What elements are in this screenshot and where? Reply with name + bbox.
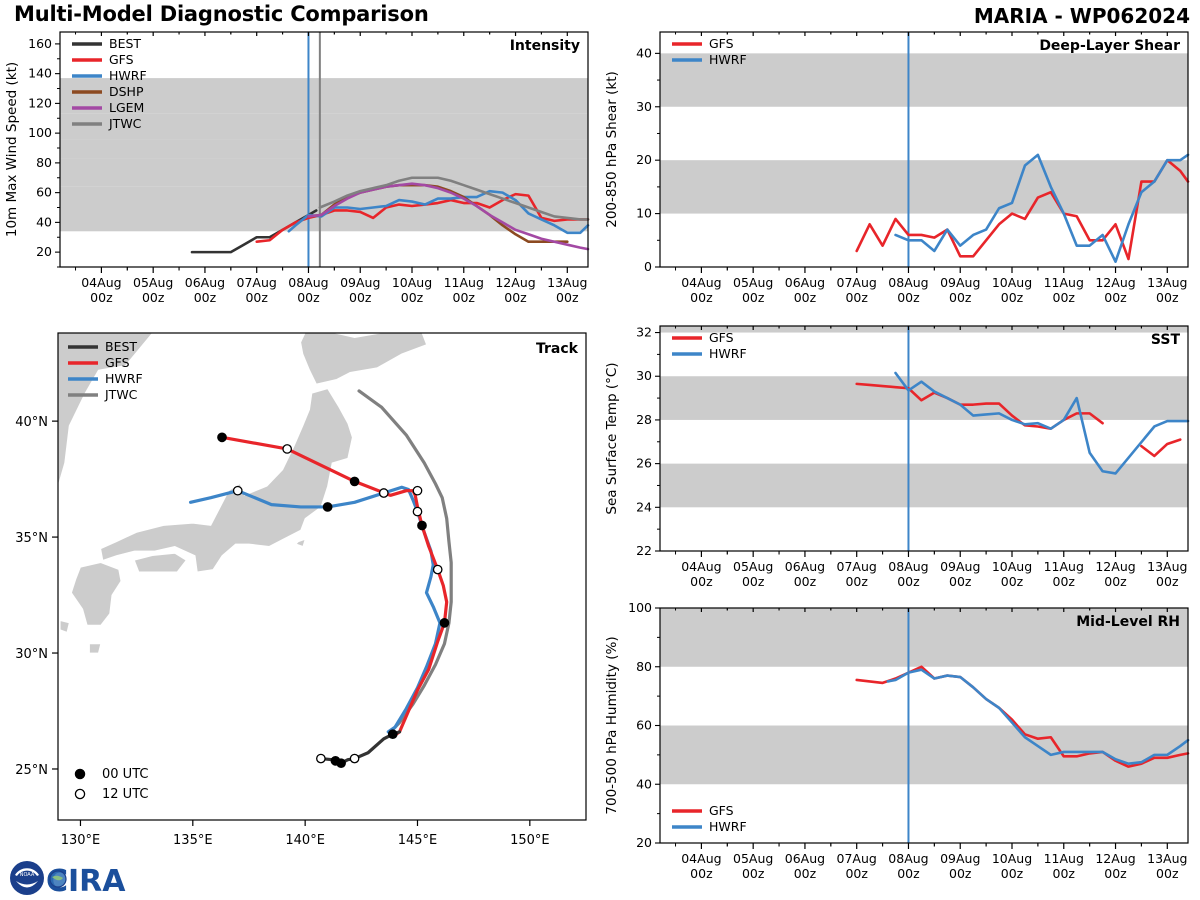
x-tick-sublabel: 00z <box>794 574 817 589</box>
y-tick-label: 100 <box>628 600 652 615</box>
x-tick-label: 07Aug <box>237 275 277 290</box>
track-marker-12utc <box>234 486 242 494</box>
x-tick-label: 05Aug <box>733 851 773 866</box>
legend-label-lgem: LGEM <box>109 100 144 115</box>
x-tick-label: 06Aug <box>185 275 225 290</box>
legend-label-best: BEST <box>109 36 141 51</box>
band <box>660 464 1188 508</box>
x-tick-label: 04Aug <box>681 851 721 866</box>
plot-rh: 20406080100700-500 hPa Humidity (%)04Aug… <box>600 598 1200 898</box>
legend-label-gfs: GFS <box>109 52 134 67</box>
x-tick-sublabel: 00z <box>1104 574 1127 589</box>
x-tick-sublabel: 00z <box>1156 574 1179 589</box>
y-tick-label: 32 <box>636 325 652 340</box>
x-tick-label: 04Aug <box>681 275 721 290</box>
x-tick-sublabel: 00z <box>297 290 320 305</box>
y-tick-label: 28 <box>636 412 652 427</box>
marker-legend-label: 00 UTC <box>102 767 148 782</box>
y-axis: 010203040 <box>636 45 660 274</box>
x-tick-sublabel: 00z <box>949 866 972 881</box>
band <box>60 139 588 158</box>
chart-intensity: 2040608010012014016010m Max Wind Speed (… <box>0 22 600 322</box>
legend-label-jtwc: JTWC <box>108 116 142 131</box>
x-tick-label: 04Aug <box>681 559 721 574</box>
track-marker-00utc <box>389 730 397 738</box>
track-marker-00utc <box>337 759 345 767</box>
y-axis-label: Sea Surface Temp (°C) <box>604 362 620 514</box>
x-tick-label: 07Aug <box>837 851 877 866</box>
legend-label-jtwc: JTWC <box>104 387 138 402</box>
y-tick-label: 40 <box>636 45 652 60</box>
x-tick-sublabel: 00z <box>349 290 372 305</box>
plot-track: 130°E135°E140°E145°E150°E25°N30°N35°N40°… <box>0 325 600 865</box>
x-tick-sublabel: 00z <box>1053 574 1076 589</box>
x-tick-sublabel: 00z <box>845 574 868 589</box>
x-tick-sublabel: 00z <box>742 290 765 305</box>
y-tick-label: 60 <box>636 718 652 733</box>
svg-text:NOAA: NOAA <box>20 872 35 878</box>
y-tick-label: 10 <box>636 206 652 221</box>
x-tick-label: 11Aug <box>1044 275 1084 290</box>
x-tick-sublabel: 00z <box>453 290 476 305</box>
x-tick-sublabel: 00z <box>1053 866 1076 881</box>
map-x-tick-label: 150°E <box>510 833 550 848</box>
x-tick-label: 09Aug <box>940 275 980 290</box>
y-tick-label: 40 <box>636 776 652 791</box>
x-tick-sublabel: 00z <box>401 290 424 305</box>
track-marker-12utc <box>380 489 388 497</box>
x-tick-label: 12Aug <box>495 275 535 290</box>
y-tick-label: 22 <box>636 543 652 558</box>
noaa-cira-logo: NOAA CIRA <box>8 858 138 898</box>
x-tick-sublabel: 00z <box>556 290 579 305</box>
legend-label-gfs: GFS <box>709 803 734 818</box>
y-tick-label: 60 <box>36 185 52 200</box>
y-axis-label: 10m Max Wind Speed (kt) <box>4 62 20 237</box>
legend-label-gfs: GFS <box>709 36 734 51</box>
x-tick-sublabel: 00z <box>794 290 817 305</box>
map-x-tick-label: 145°E <box>398 833 438 848</box>
map-y-tick-label: 35°N <box>15 531 48 546</box>
legend-label-hwrf: HWRF <box>709 819 747 834</box>
track-marker-00utc <box>440 619 448 627</box>
y-tick-label: 140 <box>28 66 52 81</box>
x-tick-label: 12Aug <box>1095 559 1135 574</box>
x-tick-sublabel: 00z <box>949 574 972 589</box>
x-tick-label: 10Aug <box>992 559 1032 574</box>
band <box>60 158 588 186</box>
x-tick-sublabel: 00z <box>897 574 920 589</box>
x-tick-label: 05Aug <box>733 275 773 290</box>
x-tick-sublabel: 00z <box>690 290 713 305</box>
y-tick-label: 40 <box>36 214 52 229</box>
y-tick-label: 26 <box>636 456 652 471</box>
chart-mid-level-rh: 20406080100700-500 hPa Humidity (%)04Aug… <box>600 598 1200 898</box>
x-tick-sublabel: 00z <box>1156 866 1179 881</box>
marker-legend-label: 12 UTC <box>102 787 148 802</box>
y-axis: 20406080100120140160 <box>28 36 60 267</box>
x-tick-sublabel: 00z <box>897 290 920 305</box>
x-tick-sublabel: 00z <box>845 290 868 305</box>
track-marker-12utc <box>317 754 325 762</box>
y-tick-label: 20 <box>36 244 52 259</box>
track-marker-00utc <box>350 477 358 485</box>
panel-title-sst: SST <box>1151 332 1181 348</box>
x-tick-label: 10Aug <box>992 851 1032 866</box>
y-axis-label: 200-850 hPa Shear (kt) <box>604 71 620 228</box>
plot-sst: 222426283032Sea Surface Temp (°C)04Aug00… <box>600 318 1200 603</box>
x-tick-sublabel: 00z <box>742 574 765 589</box>
track-marker-00utc <box>218 433 226 441</box>
x-tick-sublabel: 00z <box>1053 290 1076 305</box>
map-y-tick-label: 25°N <box>15 763 48 778</box>
legend-label-dshp: DSHP <box>109 84 144 99</box>
x-tick-label: 10Aug <box>992 275 1032 290</box>
y-axis: 20406080100 <box>628 600 660 850</box>
x-tick-sublabel: 00z <box>690 574 713 589</box>
x-tick-label: 12Aug <box>1095 275 1135 290</box>
marker-legend-icon-open <box>75 789 84 798</box>
legend-label-hwrf: HWRF <box>109 68 147 83</box>
map-x-tick-label: 135°E <box>173 833 213 848</box>
x-tick-sublabel: 00z <box>142 290 165 305</box>
y-tick-label: 24 <box>636 499 652 514</box>
x-tick-sublabel: 00z <box>1104 290 1127 305</box>
x-tick-sublabel: 00z <box>1156 290 1179 305</box>
y-tick-label: 30 <box>636 99 652 114</box>
x-tick-sublabel: 00z <box>845 866 868 881</box>
x-tick-label: 08Aug <box>888 851 928 866</box>
y-tick-label: 0 <box>644 259 652 274</box>
map-x-tick-label: 140°E <box>285 833 325 848</box>
x-tick-label: 06Aug <box>785 275 825 290</box>
x-tick-label: 08Aug <box>888 559 928 574</box>
x-tick-label: 06Aug <box>785 559 825 574</box>
y-tick-label: 80 <box>636 659 652 674</box>
x-tick-sublabel: 00z <box>897 866 920 881</box>
track-marker-12utc <box>350 754 358 762</box>
x-tick-label: 07Aug <box>837 559 877 574</box>
x-tick-label: 13Aug <box>547 275 587 290</box>
x-tick-sublabel: 00z <box>1104 866 1127 881</box>
track-marker-12utc <box>283 445 291 453</box>
x-tick-label: 11Aug <box>1044 851 1084 866</box>
x-tick-sublabel: 00z <box>194 290 217 305</box>
small-island-b <box>90 644 101 653</box>
band <box>660 160 1188 213</box>
x-tick-label: 10Aug <box>392 275 432 290</box>
y-axis-label: 700-500 hPa Humidity (%) <box>604 636 620 814</box>
x-tick-label: 13Aug <box>1147 851 1187 866</box>
x-tick-sublabel: 00z <box>794 866 817 881</box>
map-y-tick-label: 30°N <box>15 647 48 662</box>
track-marker-00utc <box>323 503 331 511</box>
x-tick-label: 07Aug <box>837 275 877 290</box>
x-tick-sublabel: 00z <box>504 290 527 305</box>
legend-label-hwrf: HWRF <box>105 371 143 386</box>
plot-intensity: 2040608010012014016010m Max Wind Speed (… <box>0 22 600 322</box>
x-tick-sublabel: 00z <box>245 290 268 305</box>
x-tick-label: 05Aug <box>733 559 773 574</box>
band <box>660 326 1188 333</box>
y-tick-label: 80 <box>36 155 52 170</box>
x-tick-label: 08Aug <box>288 275 328 290</box>
x-tick-label: 11Aug <box>444 275 484 290</box>
track-marker-12utc <box>434 565 442 573</box>
cira-wordmark-icon: CIRA <box>46 864 126 898</box>
y-tick-label: 160 <box>28 36 52 51</box>
legend-label-gfs: GFS <box>105 355 130 370</box>
x-tick-label: 06Aug <box>785 851 825 866</box>
panel-title-intensity: Intensity <box>510 38 580 54</box>
x-tick-label: 04Aug <box>81 275 121 290</box>
legend-label-best: BEST <box>105 339 137 354</box>
chart-track-map: 130°E135°E140°E145°E150°E25°N30°N35°N40°… <box>0 325 600 865</box>
track-marker-12utc <box>413 486 421 494</box>
plot-shear: 010203040200-850 hPa Shear (kt)04Aug00z0… <box>600 22 1200 322</box>
x-tick-sublabel: 00z <box>1001 290 1024 305</box>
panel-title-rh: Mid-Level RH <box>1076 614 1180 630</box>
x-tick-label: 11Aug <box>1044 559 1084 574</box>
x-tick-label: 08Aug <box>888 275 928 290</box>
y-axis: 222426283032 <box>636 325 660 558</box>
x-tick-sublabel: 00z <box>742 866 765 881</box>
x-tick-sublabel: 00z <box>90 290 113 305</box>
y-tick-label: 20 <box>636 835 652 850</box>
x-tick-label: 09Aug <box>940 851 980 866</box>
map-y-tick-label: 40°N <box>15 415 48 430</box>
legend-label-gfs: GFS <box>709 330 734 345</box>
x-tick-sublabel: 00z <box>690 866 713 881</box>
x-tick-label: 12Aug <box>1095 851 1135 866</box>
chart-deep-layer-shear: 010203040200-850 hPa Shear (kt)04Aug00z0… <box>600 22 1200 322</box>
legend-label-hwrf: HWRF <box>709 346 747 361</box>
x-tick-label: 13Aug <box>1147 559 1187 574</box>
y-tick-label: 120 <box>28 95 52 110</box>
x-tick-sublabel: 00z <box>1001 574 1024 589</box>
noaa-seal-icon: NOAA <box>10 861 44 895</box>
x-tick-label: 05Aug <box>133 275 173 290</box>
y-tick-label: 100 <box>28 125 52 140</box>
panel-title-track: Track <box>536 341 579 357</box>
x-tick-label: 13Aug <box>1147 275 1187 290</box>
marker-legend-icon-filled <box>75 769 84 778</box>
map-x-tick-label: 130°E <box>61 833 101 848</box>
y-tick-label: 20 <box>636 152 652 167</box>
x-tick-sublabel: 00z <box>1001 866 1024 881</box>
x-tick-label: 09Aug <box>340 275 380 290</box>
track-marker-00utc <box>418 521 426 529</box>
legend-label-hwrf: HWRF <box>709 52 747 67</box>
x-tick-label: 09Aug <box>940 559 980 574</box>
chart-sst: 222426283032Sea Surface Temp (°C)04Aug00… <box>600 318 1200 603</box>
track-marker-12utc <box>413 507 421 515</box>
y-tick-label: 30 <box>636 368 652 383</box>
panel-title-shear: Deep-Layer Shear <box>1039 38 1180 54</box>
x-tick-sublabel: 00z <box>949 290 972 305</box>
